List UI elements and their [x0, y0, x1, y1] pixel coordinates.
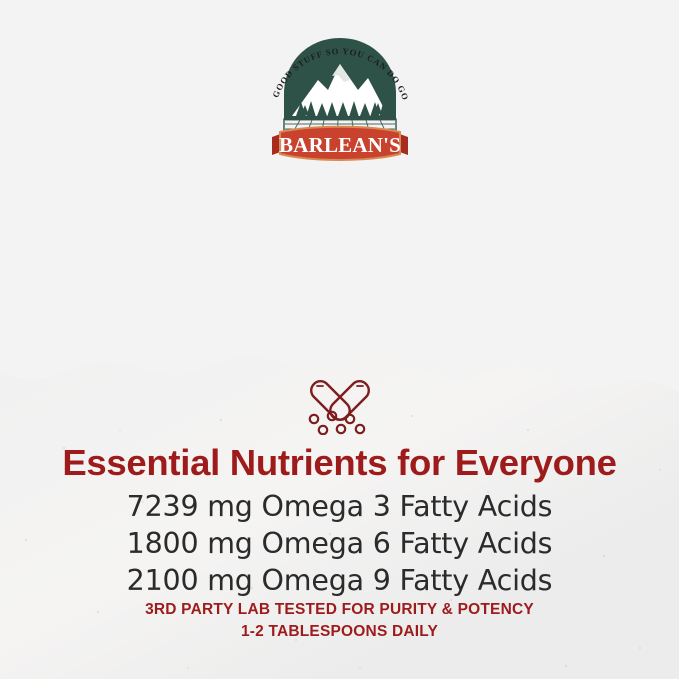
- barleans-logo: WE MAKE GOOD STUFF SO YOU CAN DO GOOD ST…: [262, 20, 418, 170]
- logo-brand-name: BARLEAN'S: [279, 133, 401, 157]
- capsules-and-droplets-icon: [302, 375, 378, 435]
- product-infographic-card: WE MAKE GOOD STUFF SO YOU CAN DO GOOD ST…: [0, 0, 679, 679]
- footer-dosage: 1-2 TABLESPOONS DAILY: [0, 623, 679, 641]
- nutrient-line-omega3: 7239 mg Omega 3 Fatty Acids: [0, 490, 679, 523]
- nutrient-line-omega6: 1800 mg Omega 6 Fatty Acids: [0, 527, 679, 560]
- page-title: Essential Nutrients for Everyone: [0, 442, 679, 484]
- droplet-dots: [310, 412, 364, 434]
- footer-lab-tested: 3RD PARTY LAB TESTED FOR PURITY & POTENC…: [0, 601, 679, 619]
- nutrient-line-omega9: 2100 mg Omega 9 Fatty Acids: [0, 564, 679, 597]
